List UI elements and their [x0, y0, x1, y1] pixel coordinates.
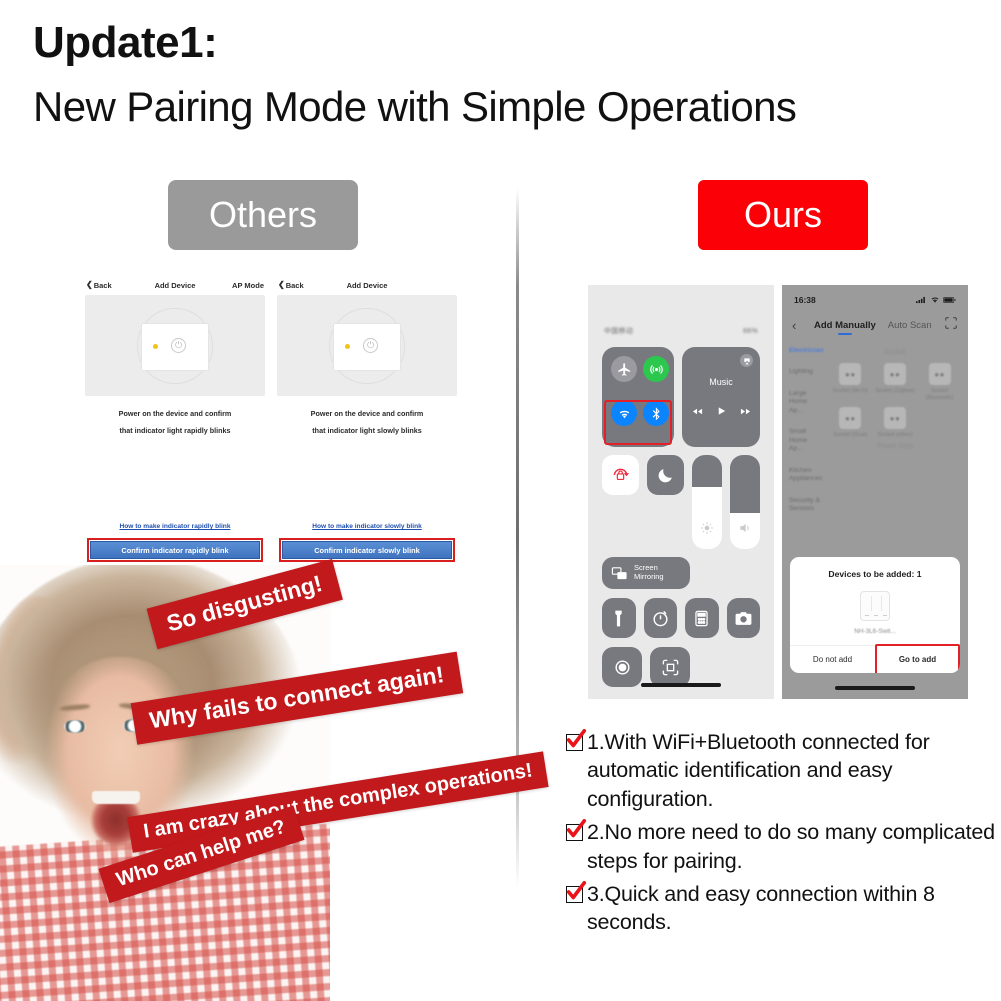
control-center-grid: Music [602, 347, 760, 687]
music-label: Music [709, 377, 733, 387]
caption-line-2a: Power on the device and confirm [271, 406, 463, 423]
checkbox-checked-icon [566, 886, 583, 903]
others-badge: Others [168, 180, 358, 250]
device-item[interactable]: ●● Socket (Zigbee) [875, 363, 916, 401]
ours-badge: Ours [698, 180, 868, 250]
category-small-home-appliances[interactable]: Small Home Ap... [789, 428, 821, 453]
add-device-modal: Devices to be added: 1 NH-3L6-Swit... Do… [790, 557, 960, 673]
confirm-button-1[interactable]: Confirm indicator rapidly blink [90, 541, 260, 559]
feature-list: 1.With WiFi+Bluetooth connected for auto… [566, 728, 996, 942]
home-indicator [641, 683, 721, 687]
volume-slider[interactable] [730, 455, 760, 549]
ios-control-center-screen: 中国移动 66% [588, 285, 774, 699]
feature-text-1: 1.With WiFi+Bluetooth connected for auto… [587, 728, 996, 813]
category-security-sensors[interactable]: Security & Sensors [789, 497, 821, 514]
brightness-icon [700, 521, 714, 540]
feature-item-2: 2.No more need to do so many complicated… [566, 818, 996, 875]
flashlight-icon[interactable] [602, 598, 636, 638]
timer-icon[interactable] [644, 598, 678, 638]
device-illustration-2: ⏻ [277, 295, 457, 396]
status-time: 16:38 [794, 295, 816, 305]
category-electrician[interactable]: Electrician [789, 347, 821, 355]
modal-title: Devices to be added: 1 [790, 557, 960, 579]
indicator-led-icon [345, 344, 350, 349]
app-caption-1: Power on the device and confirm that ind… [79, 406, 271, 439]
tuya-status-bar: 16:38 [782, 293, 968, 307]
switch-device-icon [860, 591, 890, 621]
ios-status-bar: 中国移动 66% [588, 325, 774, 337]
modal-actions: Do not add Go to add [790, 645, 960, 673]
confirm-button-highlight-1: Confirm indicator rapidly blink [87, 538, 263, 562]
eye-left [64, 720, 86, 733]
signal-icon [916, 296, 927, 304]
screen-mirroring-tile[interactable]: Screen Mirroring [602, 557, 690, 589]
device-item[interactable]: ●● Socket (Dual) [830, 407, 871, 439]
confirm-button-2[interactable]: Confirm indicator slowly blink [282, 541, 452, 559]
brightness-track [692, 455, 722, 487]
control-center-row-2 [602, 455, 760, 549]
rewind-icon [692, 406, 703, 417]
connectivity-tile [602, 347, 674, 447]
wifi-icon[interactable] [611, 400, 637, 426]
socket-icon: ●● [884, 407, 906, 429]
section-socket: Socket [830, 349, 960, 356]
category-lighting[interactable]: Lighting [789, 368, 821, 376]
app-caption-2: Power on the device and confirm that ind… [271, 406, 463, 439]
screen-record-icon[interactable] [602, 647, 642, 687]
status-icons [916, 296, 956, 304]
scan-icon[interactable] [944, 316, 958, 335]
device-illustration-1: ⏻ [85, 295, 265, 396]
device-item[interactable]: ●● Socket (other) [875, 407, 916, 439]
feature-item-1: 1.With WiFi+Bluetooth connected for auto… [566, 728, 996, 813]
device-label: Socket (Dual) [830, 432, 871, 439]
help-link-2[interactable]: How to make indicator slowly blink [271, 523, 463, 530]
do-not-add-button[interactable]: Do not add [790, 646, 875, 673]
volume-track [730, 455, 760, 513]
socket-icon: ●● [839, 407, 861, 429]
calculator-icon[interactable] [685, 598, 719, 638]
category-kitchen-appliances[interactable]: Kitchen Appliances [789, 467, 821, 484]
bluetooth-icon[interactable] [643, 400, 669, 426]
checkbox-checked-icon [566, 824, 583, 841]
wifi-status-icon [930, 296, 940, 304]
music-widget[interactable]: Music [682, 347, 760, 447]
page-title-line1: Update1: [33, 20, 217, 66]
caption-line-2b: that indicator light slowly blinks [271, 423, 463, 440]
tuya-navbar: ‹ Add Manually Auto Scan [782, 313, 968, 337]
power-icon: ⏻ [363, 338, 378, 353]
socket-items: ●● Socket (Wi-Fi) ●● Socket (Zigbee) ●● … [830, 363, 960, 439]
category-large-home-appliances[interactable]: Large Home Ap... [789, 390, 821, 415]
device-label: Socket (Bluetooth) [919, 388, 960, 401]
cellular-data-icon[interactable] [643, 356, 669, 382]
caption-line-1a: Power on the device and confirm [79, 406, 271, 423]
device-item[interactable]: ●● Socket (Wi-Fi) [830, 363, 871, 401]
ours-badge-label: Ours [744, 194, 822, 236]
others-app-screen-1: ❮ Back Add Device AP Mode ⏻ Power on the… [79, 275, 271, 439]
volume-icon [738, 521, 752, 540]
device-item[interactable]: ●● Socket (Bluetooth) [919, 363, 960, 401]
do-not-disturb-icon[interactable] [647, 455, 684, 495]
tab-auto-scan[interactable]: Auto Scan [888, 320, 932, 331]
screen-mirroring-icon [611, 565, 628, 582]
page-title-line2: New Pairing Mode with Simple Operations [33, 84, 796, 129]
music-controls [692, 405, 751, 417]
section-power-strip: Power Strip [830, 443, 960, 450]
device-model-label: NH-3L6-Swit... [854, 628, 896, 635]
modal-device: NH-3L6-Swit... [790, 579, 960, 645]
checkbox-checked-icon [566, 734, 583, 751]
tab-add-manually[interactable]: Add Manually [814, 320, 876, 331]
control-center-row-4 [602, 647, 760, 687]
ours-column: 中国移动 66% [588, 285, 974, 700]
brightness-slider[interactable] [692, 455, 722, 549]
feature-text-2: 2.No more need to do so many complicated… [587, 818, 996, 875]
device-label: Socket (Wi-Fi) [830, 388, 871, 395]
help-link-1[interactable]: How to make indicator rapidly blink [79, 523, 271, 530]
camera-icon[interactable] [727, 598, 761, 638]
app-navbar-1: ❮ Back Add Device AP Mode [79, 275, 271, 295]
battery-label: 66% [743, 328, 758, 335]
airplane-mode-icon[interactable] [611, 356, 637, 382]
tuya-add-device-screen: 16:38 ‹ Add Manually Auto Scan Electrici… [782, 285, 968, 699]
others-app-screen-2: ❮ Back Add Device ⏻ Power on the device … [271, 275, 463, 439]
device-label: Socket (Zigbee) [875, 388, 916, 395]
confirm-button-highlight-2: Confirm indicator slowly blink [279, 538, 455, 562]
socket-icon: ●● [884, 363, 906, 385]
ap-mode-button[interactable]: AP Mode [232, 281, 264, 290]
home-indicator [835, 686, 915, 690]
socket-icon: ●● [929, 363, 951, 385]
power-icon: ⏻ [171, 338, 186, 353]
go-to-add-button[interactable]: Go to add [875, 646, 960, 673]
battery-icon [943, 296, 956, 304]
carrier-label: 中国移动 [604, 326, 633, 336]
fast-forward-icon [740, 406, 751, 417]
back-button[interactable]: ‹ [792, 318, 808, 333]
teeth [92, 791, 140, 804]
promo-page: Update1: New Pairing Mode with Simple Op… [0, 0, 1001, 1001]
device-label: Socket (other) [875, 432, 916, 439]
feature-text-3: 3.Quick and easy connection within 8 sec… [587, 880, 996, 937]
control-center-row-3 [602, 598, 760, 638]
caption-line-1b: that indicator light rapidly blinks [79, 423, 271, 440]
airplay-icon[interactable] [740, 354, 753, 367]
rotation-lock-icon[interactable] [602, 455, 639, 495]
qr-scanner-icon[interactable] [650, 647, 690, 687]
control-center-row-1: Music [602, 347, 760, 447]
indicator-led-icon [153, 344, 158, 349]
screen-mirroring-label: Screen Mirroring [634, 564, 664, 581]
mirroring-line2: Mirroring [634, 573, 664, 582]
play-icon [716, 405, 727, 417]
app-navbar-2: ❮ Back Add Device [271, 275, 463, 295]
app-title-2: Add Device [271, 281, 463, 290]
socket-icon: ●● [839, 363, 861, 385]
feature-item-3: 3.Quick and easy connection within 8 sec… [566, 880, 996, 937]
others-badge-label: Others [209, 194, 317, 236]
